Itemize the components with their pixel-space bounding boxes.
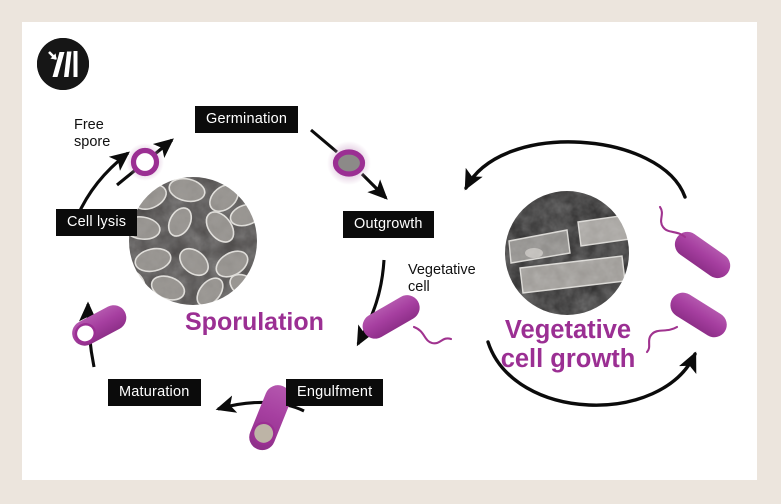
arc-vegetative-top [466, 142, 685, 197]
veg-rod-upper-icon [660, 207, 735, 283]
vegetative-micrograph [505, 191, 637, 315]
vector-layer [22, 22, 757, 480]
arrow-lysis-to-free-spore [77, 153, 128, 217]
cycle-title-sporulation: Sporulation [185, 308, 324, 336]
stage-label-germination: Germination [195, 106, 298, 133]
stage-label-maturation: Maturation [108, 379, 201, 406]
figure-root: Germination Outgrowth Engulfment Maturat… [0, 0, 781, 504]
germinating-spore-icon [327, 141, 371, 185]
caption-vegetative-cell: Vegetative cell [408, 262, 476, 295]
veg-rod-lower-icon [647, 288, 731, 352]
stage-label-cell-lysis: Cell lysis [56, 209, 137, 236]
caption-free-spore: Free spore [74, 117, 110, 150]
arrow-spore-to-outgrowth [362, 174, 386, 198]
spore-micrograph [120, 175, 264, 310]
stage-label-outgrowth: Outgrowth [343, 211, 434, 238]
stage-label-engulfment: Engulfment [286, 379, 383, 406]
journal-logo [37, 38, 89, 90]
cycle-title-vegetative-growth: Vegetative cell growth [492, 316, 644, 373]
lysis-cell-icon [68, 301, 131, 350]
free-spore-icon [126, 143, 164, 181]
vegetative-cell-icon [358, 291, 451, 344]
figure-canvas: Germination Outgrowth Engulfment Maturat… [22, 22, 757, 480]
